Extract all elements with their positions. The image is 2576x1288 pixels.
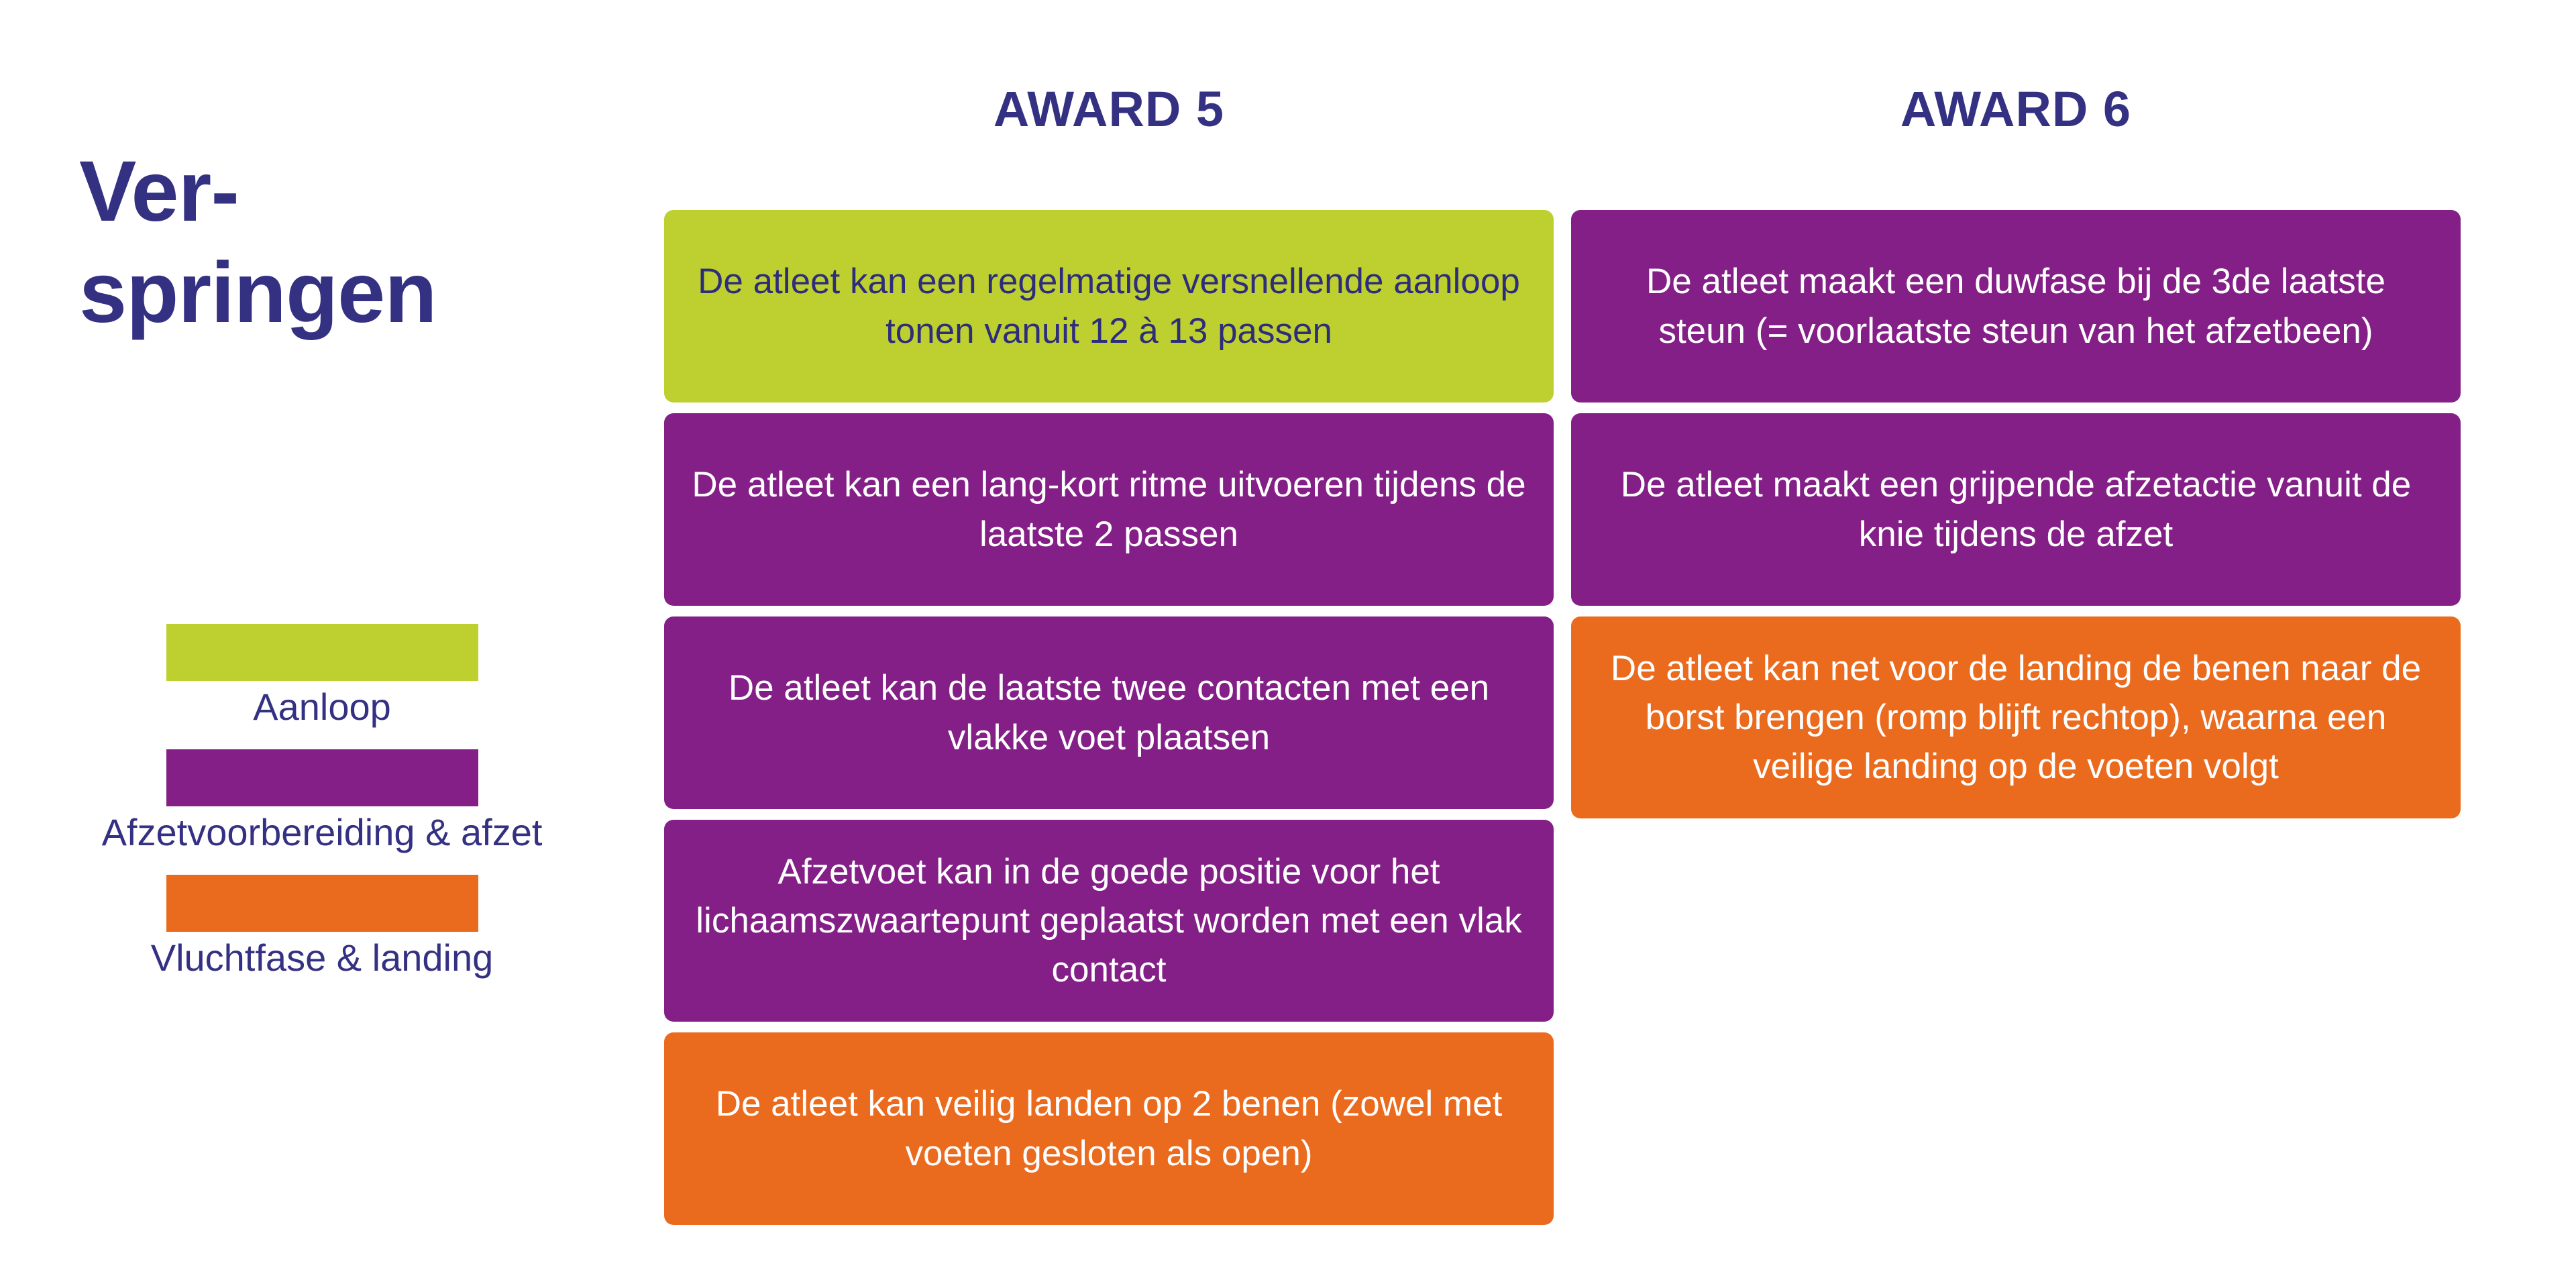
criterion-card: De atleet maakt een duwfase bij de 3de l… <box>1571 210 2461 402</box>
criterion-card: Afzetvoet kan in de goede positie voor h… <box>664 820 1554 1022</box>
page-title-line-2: springen <box>79 242 589 343</box>
criterion-card-text: De atleet kan een regelmatige versnellen… <box>691 257 1527 355</box>
legend-label-afzetvoorbereiding: Afzetvoorbereiding & afzet <box>0 806 644 855</box>
column-header-award-6: AWARD 6 <box>1571 80 2461 138</box>
legend: Aanloop Afzetvoorbereiding & afzet Vluch… <box>0 624 644 1000</box>
criterion-card-text: De atleet maakt een duwfase bij de 3de l… <box>1598 257 2434 355</box>
criterion-card-text: De atleet kan een lang-kort ritme uitvoe… <box>691 460 1527 558</box>
legend-item-vluchtfase: Vluchtfase & landing <box>0 875 644 980</box>
criterion-card-text: De atleet kan net voor de landing de ben… <box>1598 644 2434 791</box>
card-stack-award-6: De atleet maakt een duwfase bij de 3de l… <box>1571 210 2461 829</box>
legend-swatch-vluchtfase-icon <box>166 875 478 932</box>
criterion-card-text: De atleet kan veilig landen op 2 benen (… <box>691 1079 1527 1177</box>
column-header-award-5: AWARD 5 <box>664 80 1554 138</box>
card-stack-award-5: De atleet kan een regelmatige versnellen… <box>664 210 1554 1236</box>
page-title-line-1: Ver- <box>79 141 589 242</box>
legend-label-aanloop: Aanloop <box>0 681 644 729</box>
criterion-card: De atleet kan een lang-kort ritme uitvoe… <box>664 413 1554 606</box>
criterion-card: De atleet kan een regelmatige versnellen… <box>664 210 1554 402</box>
legend-item-afzetvoorbereiding: Afzetvoorbereiding & afzet <box>0 749 644 855</box>
page-title: Ver- springen <box>79 141 589 343</box>
criterion-card-text: De atleet kan de laatste twee contacten … <box>691 663 1527 761</box>
left-panel: Ver- springen Aanloop Afzetvoorbereiding… <box>0 0 644 1288</box>
legend-label-vluchtfase: Vluchtfase & landing <box>0 932 644 980</box>
legend-swatch-afzetvoorbereiding-icon <box>166 749 478 806</box>
criterion-card-text: De atleet maakt een grijpende afzetactie… <box>1598 460 2434 558</box>
criterion-card: De atleet kan veilig landen op 2 benen (… <box>664 1032 1554 1225</box>
criterion-card: De atleet kan de laatste twee contacten … <box>664 616 1554 809</box>
legend-item-aanloop: Aanloop <box>0 624 644 729</box>
criterion-card-text: Afzetvoet kan in de goede positie voor h… <box>691 847 1527 994</box>
legend-swatch-aanloop-icon <box>166 624 478 681</box>
criterion-card: De atleet kan net voor de landing de ben… <box>1571 616 2461 818</box>
criterion-card: De atleet maakt een grijpende afzetactie… <box>1571 413 2461 606</box>
